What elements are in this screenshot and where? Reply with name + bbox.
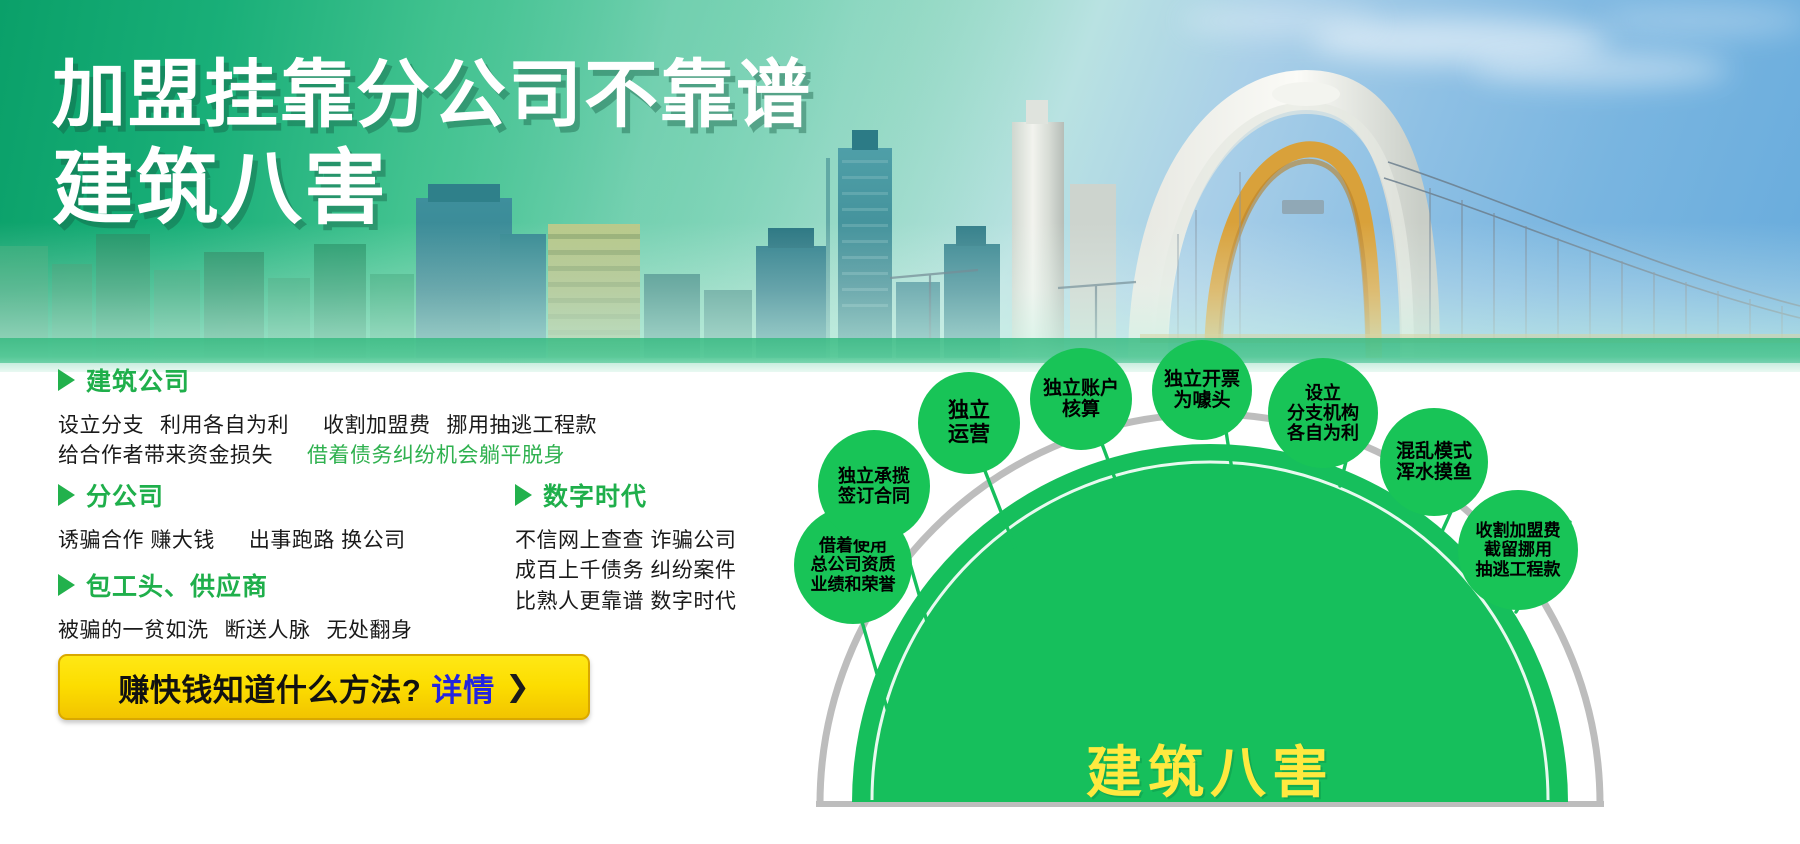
text-run: 出事跑路 换公司 xyxy=(249,529,406,552)
section-digital-title: 数字时代 xyxy=(543,477,647,513)
triangle-right-icon xyxy=(58,369,75,391)
bubble-line: 独立账户 xyxy=(1043,378,1119,399)
text-run: 诱骗合作 赚大钱 xyxy=(58,529,215,552)
cta-question-label: 赚快钱知道什么方法? xyxy=(118,665,421,710)
bubble-set-up-branches[interactable]: 设立 分支机构 各自为利 xyxy=(1268,358,1378,468)
section-branch-title: 分公司 xyxy=(86,477,164,513)
bubble-independent-operation[interactable]: 独立 运营 xyxy=(918,372,1020,474)
bubble-line: 独立承揽 xyxy=(838,466,910,486)
bubble-line: 签订合同 xyxy=(838,486,910,506)
text-run: 被骗的一贫如洗 xyxy=(58,619,209,642)
cloud-shape xyxy=(1180,6,1380,36)
bubble-line: 截留挪用 xyxy=(1484,540,1552,559)
hero-banner: 加盟挂靠分公司不靠谱 建筑八害 xyxy=(0,0,1800,372)
section-digital-line2: 成百上千债务 纠纷案件 xyxy=(515,556,736,586)
triangle-right-icon xyxy=(58,574,75,596)
section-digital-heading: 数字时代 xyxy=(515,477,736,513)
section-digital: 数字时代 不信网上查查 诈骗公司 成百上千债务 纠纷案件 比熟人更靠谱 数字时代 xyxy=(515,477,736,617)
chevron-right-icon: ❯ xyxy=(505,673,529,702)
bubble-text: 设立 分支机构 各自为利 xyxy=(1287,383,1359,443)
section-company-body: 设立分支利用各自为利收割加盟费挪用抽逃工程款 给合作者带来资金损失借着债务纠纷机… xyxy=(58,411,597,472)
section-contractor-title: 包工头、供应商 xyxy=(86,567,268,603)
cta-detail-link[interactable]: 详情 xyxy=(431,665,495,710)
poster-root: 加盟挂靠分公司不靠谱 建筑八害 建筑公司 设立分支利用各自为利收割加盟费挪用抽逃… xyxy=(0,0,1800,844)
section-company-line1: 设立分支利用各自为利收割加盟费挪用抽逃工程款 xyxy=(58,411,597,441)
cloud-shape xyxy=(1600,6,1800,36)
section-company-title: 建筑公司 xyxy=(86,362,190,398)
triangle-right-icon xyxy=(58,484,75,506)
section-company-heading: 建筑公司 xyxy=(58,362,597,398)
bubble-text: 独立 运营 xyxy=(948,399,990,446)
section-branch: 分公司 诱骗合作 赚大钱出事跑路 换公司 xyxy=(58,477,406,556)
bubble-line: 各自为利 xyxy=(1287,423,1359,443)
bubble-line: 分支机构 xyxy=(1287,403,1359,423)
bubble-text: 独立承揽 签订合同 xyxy=(838,466,910,506)
bubble-franchise-fee-diversion[interactable]: 收割加盟费 截留挪用 抽逃工程款 xyxy=(1458,490,1578,610)
bubble-line: 业绩和荣誉 xyxy=(811,575,896,594)
bubble-line: 运营 xyxy=(948,423,990,446)
bubble-line: 收割加盟费 xyxy=(1476,521,1561,540)
section-company-line2: 给合作者带来资金损失借着债务纠纷机会躺平脱身 xyxy=(58,441,597,471)
section-contractor-line1: 被骗的一贫如洗断送人脉无处翻身 xyxy=(58,616,413,646)
text-run: 收割加盟费 xyxy=(323,414,431,437)
hero-title-line1: 加盟挂靠分公司不靠谱 xyxy=(52,56,812,134)
text-run-highlight: 借着债务纠纷机会躺平脱身 xyxy=(307,444,565,467)
bubble-independent-account[interactable]: 独立账户 核算 xyxy=(1030,348,1132,450)
text-run: 挪用抽逃工程款 xyxy=(447,414,598,437)
section-branch-heading: 分公司 xyxy=(58,477,406,513)
text-run: 断送人脉 xyxy=(225,619,311,642)
bubble-line: 为噱头 xyxy=(1173,390,1230,411)
bubble-line: 核算 xyxy=(1062,399,1100,420)
bubble-text: 独立账户 核算 xyxy=(1043,378,1119,421)
section-digital-body: 不信网上查查 诈骗公司 成百上千债务 纠纷案件 比熟人更靠谱 数字时代 xyxy=(515,526,736,617)
bubble-text: 借着使用 总公司资质 业绩和荣誉 xyxy=(811,536,896,593)
section-company: 建筑公司 设立分支利用各自为利收割加盟费挪用抽逃工程款 给合作者带来资金损失借着… xyxy=(58,362,597,472)
bubble-line: 总公司资质 xyxy=(811,555,896,574)
bubble-line: 混乱模式 xyxy=(1396,441,1472,462)
text-run: 给合作者带来资金损失 xyxy=(58,444,273,467)
section-contractor-body: 被骗的一贫如洗断送人脉无处翻身 xyxy=(58,616,413,646)
text-run: 无处翻身 xyxy=(327,619,413,642)
page-title: 加盟挂靠分公司不靠谱 建筑八害 xyxy=(52,56,812,232)
hero-title-line2: 建筑八害 xyxy=(52,146,812,232)
bubble-independent-invoice[interactable]: 独立开票 为噱头 xyxy=(1152,340,1252,440)
bubble-line: 独立开票 xyxy=(1164,369,1240,390)
section-digital-line1: 不信网上查查 诈骗公司 xyxy=(515,526,736,556)
bubble-text: 独立开票 为噱头 xyxy=(1164,369,1240,412)
text-run: 利用各自为利 xyxy=(160,414,289,437)
section-digital-line3: 比熟人更靠谱 数字时代 xyxy=(515,587,736,617)
triangle-right-icon xyxy=(515,484,532,506)
bubble-line: 独立 xyxy=(948,399,990,422)
bubble-text: 混乱模式 浑水摸鱼 xyxy=(1396,441,1472,484)
text-run: 设立分支 xyxy=(58,414,144,437)
section-contractor-heading: 包工头、供应商 xyxy=(58,567,413,603)
cta-button[interactable]: 赚快钱知道什么方法? 详情 ❯ xyxy=(58,654,590,720)
eight-harms-diagram: 借着使用 总公司资质 业绩和荣誉 独立承揽 签订合同 独立 运营 独立账户 核算 xyxy=(780,330,1800,844)
section-contractor: 包工头、供应商 被骗的一贫如洗断送人脉无处翻身 xyxy=(58,567,413,646)
bubble-independent-contract[interactable]: 独立承揽 签订合同 xyxy=(818,430,930,542)
section-branch-body: 诱骗合作 赚大钱出事跑路 换公司 xyxy=(58,526,406,556)
bubble-line: 浑水摸鱼 xyxy=(1396,462,1472,483)
left-content-column: 建筑公司 设立分支利用各自为利收割加盟费挪用抽逃工程款 给合作者带来资金损失借着… xyxy=(0,372,790,844)
bubble-line: 抽逃工程款 xyxy=(1476,560,1561,579)
bubble-line: 设立 xyxy=(1305,383,1341,403)
bubble-chaotic-mode[interactable]: 混乱模式 浑水摸鱼 xyxy=(1380,408,1488,516)
bubble-text: 收割加盟费 截留挪用 抽逃工程款 xyxy=(1476,521,1561,578)
section-branch-line1: 诱骗合作 赚大钱出事跑路 换公司 xyxy=(58,526,406,556)
